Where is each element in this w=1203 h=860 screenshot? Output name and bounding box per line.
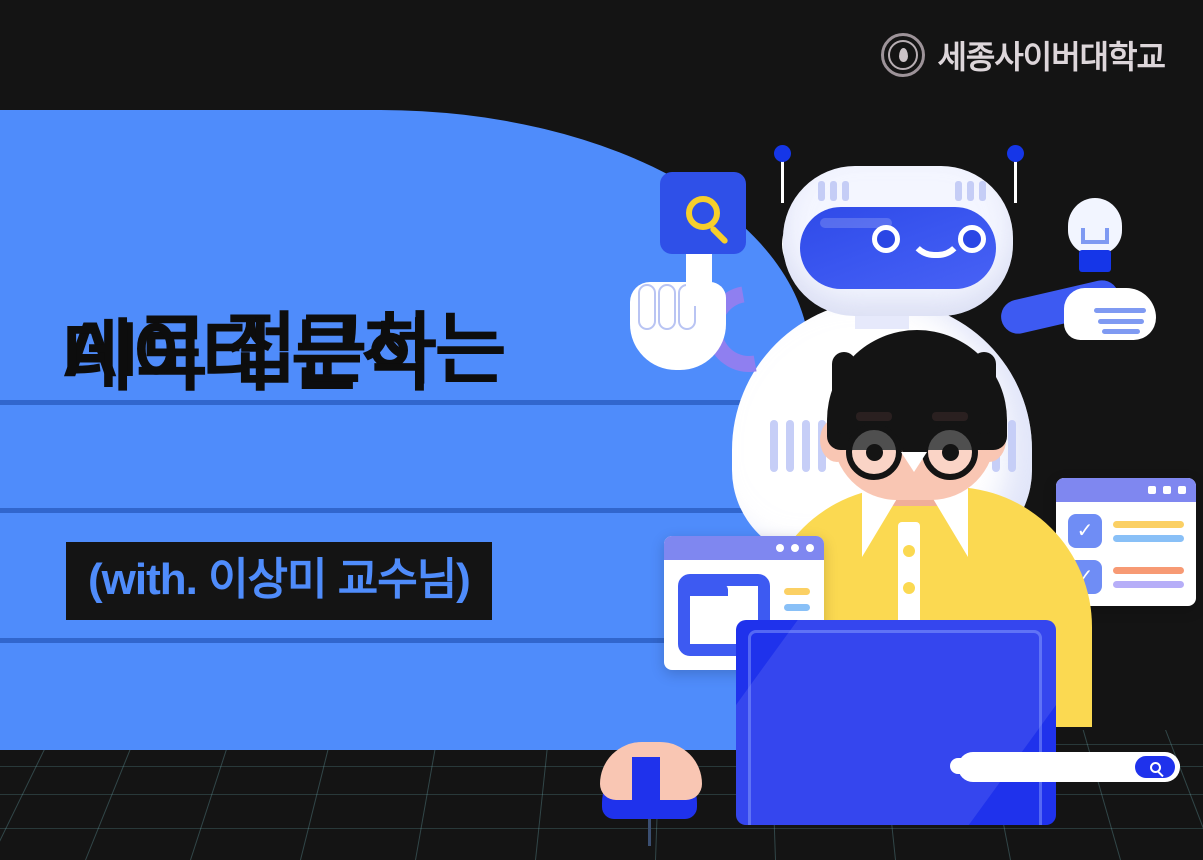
university-name: 세종사이버대학교 [937,32,1165,78]
sejong-university-emblem-icon [881,33,925,77]
poster-canvas: 세종사이버대학교 [0,0,1203,860]
blue-hero-panel [0,110,810,750]
subtitle-badge: (with. 이상미 교수님) [66,542,492,620]
university-logo[interactable]: 세종사이버대학교 [881,32,1165,78]
divider-rule [0,400,810,405]
headline-line-1: AI로 접근하는 [62,296,682,303]
divider-rule [0,638,810,643]
subtitle-text: (with. 이상미 교수님) [88,554,470,606]
page-title: AI로 접근하는 데이터 분석 [62,296,682,310]
header-bar: 세종사이버대학교 [0,0,1203,110]
headline-line-2: 데이터 분석 [62,303,682,310]
divider-rule [0,508,810,513]
